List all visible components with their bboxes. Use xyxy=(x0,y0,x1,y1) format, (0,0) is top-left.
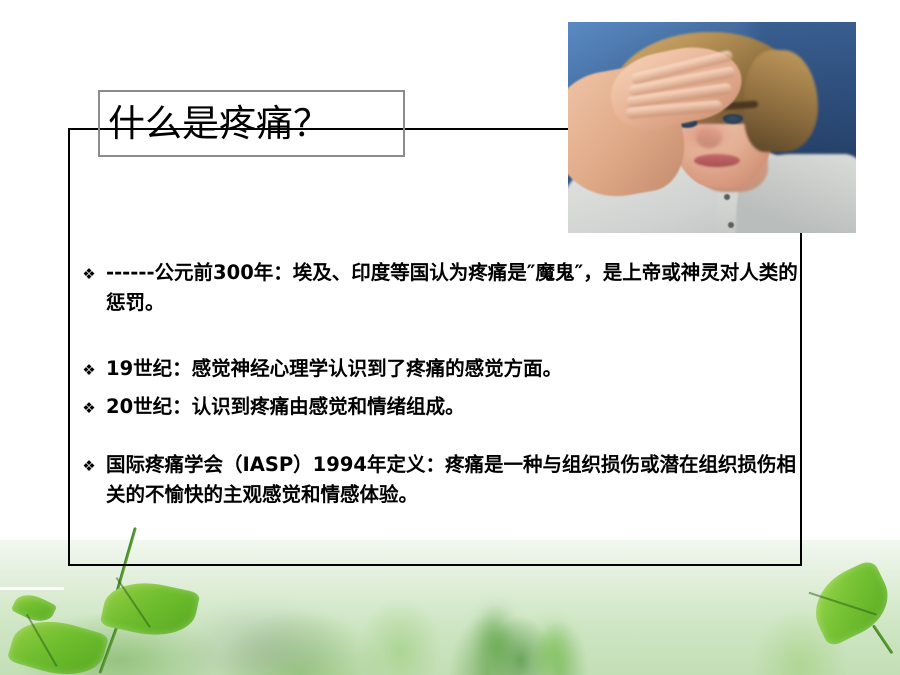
list-item-text: 19世纪：感觉神经心理学认识到了疼痛的感觉方面。 xyxy=(106,354,798,384)
photo-eye-right xyxy=(722,114,744,124)
photo-shirt-button-lower xyxy=(728,222,734,228)
content-frame-right-border xyxy=(800,233,802,566)
diamond-bullet-icon: ❖ xyxy=(72,354,106,385)
diamond-bullet-icon: ❖ xyxy=(72,450,106,481)
background-blur-center-leaves xyxy=(455,559,590,675)
diamond-bullet-icon: ❖ xyxy=(72,258,106,289)
list-item: ❖ ------公元前300年：埃及、印度等国认为疼痛是″魔鬼″，是上帝或神灵对… xyxy=(72,258,798,318)
presentation-slide: 什么是疼痛？ ❖ ------公元前300年：埃及、印度等国认为疼痛是″魔鬼″，… xyxy=(0,0,900,675)
list-item-text: 国际疼痛学会（IASP）1994年定义：疼痛是一种与组织损伤或潜在组织损伤相关的… xyxy=(106,450,798,510)
list-item-text: ------公元前300年：埃及、印度等国认为疼痛是″魔鬼″，是上帝或神灵对人类… xyxy=(106,258,798,318)
diamond-bullet-icon: ❖ xyxy=(72,392,106,423)
list-item: ❖ 19世纪：感觉神经心理学认识到了疼痛的感觉方面。 xyxy=(72,354,798,385)
content-frame-bottom-border xyxy=(68,564,802,566)
list-item: ❖ 国际疼痛学会（IASP）1994年定义：疼痛是一种与组织损伤或潜在组织损伤相… xyxy=(72,450,798,510)
content-frame-left-border xyxy=(68,128,70,566)
list-item: ❖ 20世纪：认识到疼痛由感觉和情绪组成。 xyxy=(72,392,798,423)
list-item-text: 20世纪：认识到疼痛由感觉和情绪组成。 xyxy=(106,392,798,422)
page-title: 什么是疼痛？ xyxy=(108,94,408,156)
photo-nose xyxy=(696,126,722,148)
white-accent-rule xyxy=(0,587,64,590)
headache-photo xyxy=(568,22,856,233)
photo-shirt-button-upper xyxy=(724,194,730,200)
photo-lips xyxy=(694,154,740,167)
